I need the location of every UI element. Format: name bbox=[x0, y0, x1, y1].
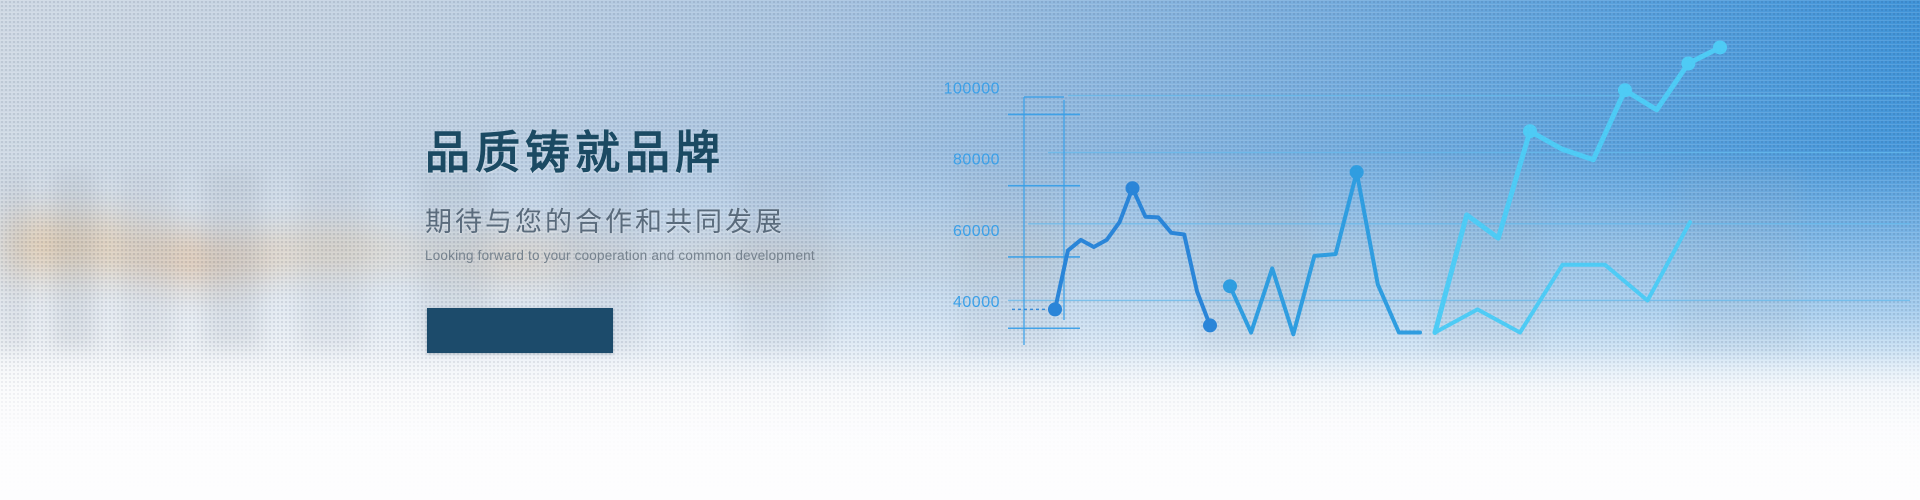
series-line-series-3 bbox=[1435, 48, 1720, 333]
data-point-marker bbox=[1203, 318, 1217, 332]
ytick-label-40000: 40000 bbox=[953, 294, 1000, 311]
chart-canvas: 100000800006000040000 bbox=[900, 0, 1920, 500]
banner-headline: 品质铸就品牌 bbox=[425, 125, 845, 181]
ytick-label-100000: 100000 bbox=[944, 80, 1000, 97]
series-line-series-2 bbox=[1230, 172, 1420, 334]
chart-series-group bbox=[1012, 48, 1720, 335]
data-point-marker bbox=[1681, 57, 1695, 71]
data-point-marker bbox=[1048, 302, 1062, 316]
chart-ytick-labels: 100000800006000040000 bbox=[944, 80, 1000, 311]
chart-axis-ticks bbox=[1008, 114, 1080, 328]
hero-banner: 品质铸就品牌 期待与您的合作和共同发展 Looking forward to y… bbox=[0, 0, 1920, 500]
banner-subtitle: 期待与您的合作和共同发展 bbox=[425, 205, 845, 240]
ytick-label-60000: 60000 bbox=[953, 223, 1000, 240]
banner-cta-button[interactable] bbox=[427, 308, 613, 353]
chart-markers-group bbox=[1048, 40, 1727, 332]
data-point-marker bbox=[1350, 165, 1364, 179]
data-point-marker bbox=[1126, 181, 1140, 195]
series-line-series-4 bbox=[1435, 222, 1690, 332]
chart-gridlines bbox=[1008, 96, 1910, 301]
data-point-marker bbox=[1618, 83, 1632, 97]
data-point-marker bbox=[1713, 40, 1727, 54]
data-point-marker bbox=[1223, 279, 1237, 293]
ytick-label-80000: 80000 bbox=[953, 152, 1000, 169]
data-point-marker bbox=[1523, 124, 1537, 138]
banner-english-subtitle: Looking forward to your cooperation and … bbox=[425, 248, 845, 263]
banner-copy: 品质铸就品牌 期待与您的合作和共同发展 Looking forward to y… bbox=[425, 125, 845, 263]
line-chart: 100000800006000040000 bbox=[900, 0, 1920, 500]
